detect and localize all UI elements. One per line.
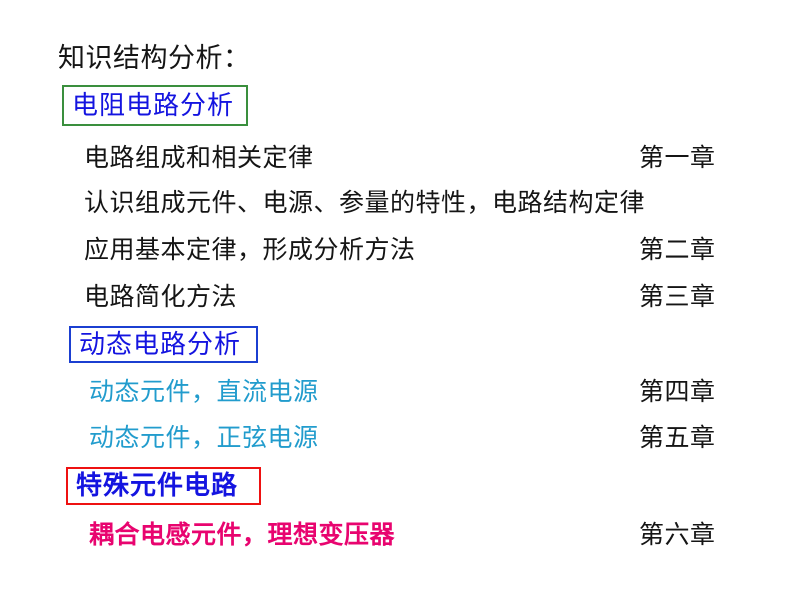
outline-row[interactable]: 应用基本定律，形成分析方法 第二章 — [0, 234, 793, 268]
outline-row-text: 耦合电感元件，理想变压器 — [89, 519, 395, 553]
outline-row-text: 动态元件，直流电源 — [89, 376, 319, 410]
group-header-label: 特殊元件电路 — [68, 471, 246, 501]
outline-row-text: 认识组成元件、电源、参量的特性，电路结构定律 — [84, 187, 645, 221]
outline-row[interactable]: 动态元件，直流电源 第四章 — [0, 376, 793, 410]
outline-row-chapter: 第三章 — [639, 281, 716, 315]
group-header-special-component-circuit[interactable]: 特殊元件电路 — [66, 467, 261, 505]
outline-row-text: 动态元件，正弦电源 — [89, 422, 319, 456]
outline-row-chapter: 第二章 — [639, 234, 716, 268]
group-header-resistive-circuit[interactable]: 电阻电路分析 — [62, 85, 248, 126]
outline-row-text: 电路组成和相关定律 — [84, 142, 314, 176]
outline-row-chapter: 第五章 — [639, 422, 716, 456]
page-title: 知识结构分析： — [58, 41, 251, 75]
group-header-dynamic-circuit[interactable]: 动态电路分析 — [69, 326, 258, 363]
group-header-label: 动态电路分析 — [71, 330, 249, 360]
group-header-label: 电阻电路分析 — [64, 91, 242, 121]
outline-row-chapter: 第六章 — [639, 519, 716, 553]
outline-row[interactable]: 电路简化方法 第三章 — [0, 281, 793, 315]
outline-row[interactable]: 动态元件，正弦电源 第五章 — [0, 422, 793, 456]
outline-row-text: 应用基本定律，形成分析方法 — [84, 234, 416, 268]
outline-row-text: 电路简化方法 — [84, 281, 237, 315]
outline-row[interactable]: 认识组成元件、电源、参量的特性，电路结构定律 — [0, 187, 793, 221]
outline-row-chapter: 第四章 — [639, 376, 716, 410]
outline-row[interactable]: 电路组成和相关定律 第一章 — [0, 142, 793, 176]
slide-canvas: 知识结构分析： 电阻电路分析 电路组成和相关定律 第一章 认识组成元件、电源、参… — [0, 0, 793, 595]
outline-row[interactable]: 耦合电感元件，理想变压器 第六章 — [0, 519, 793, 553]
outline-row-chapter: 第一章 — [639, 142, 716, 176]
